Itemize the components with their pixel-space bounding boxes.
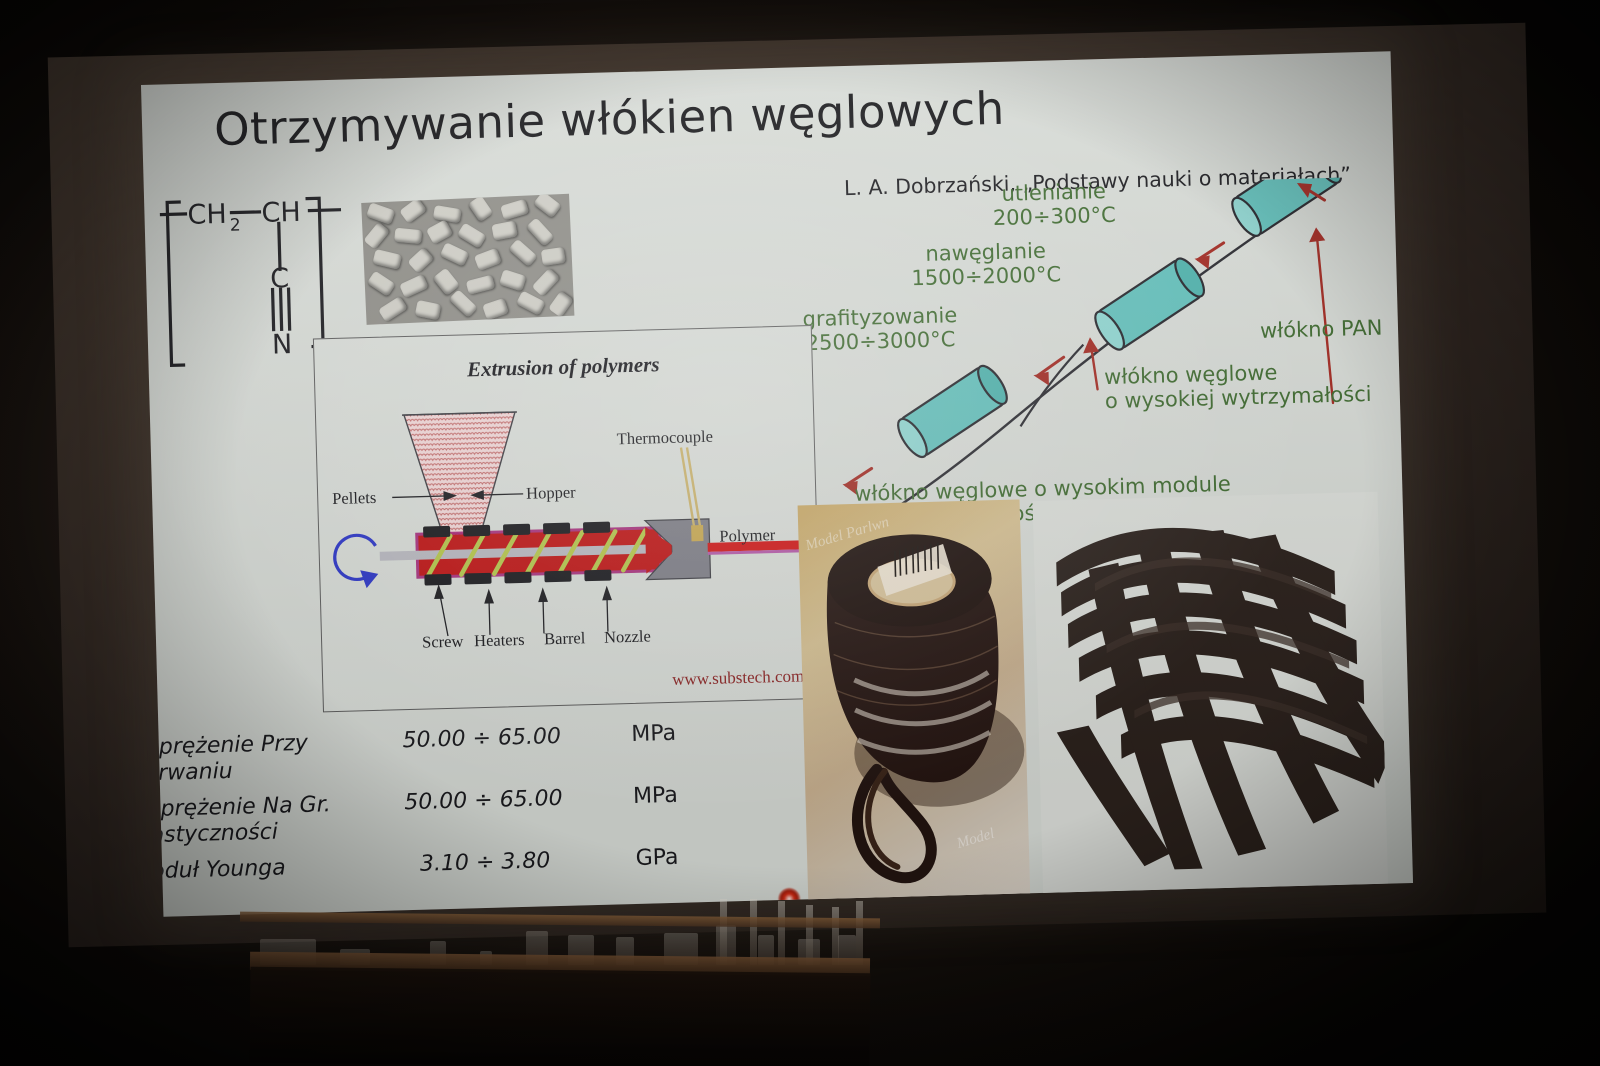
extrusion-source-watermark: www.substech.com [672, 666, 805, 690]
weave-drawing [1033, 492, 1388, 893]
formula-nitrogen: N [272, 329, 293, 361]
property-value: 3.10 ÷ 3.80 [390, 847, 581, 877]
extrusion-label-hopper: Hopper [526, 482, 576, 503]
polymer-pellets-photo [361, 194, 574, 325]
label-pan-fiber: włókno PAN [1260, 317, 1383, 344]
formula-ch2-subscript: 2 [230, 215, 241, 235]
property-value: 50.00 ÷ 65.00 [388, 785, 579, 815]
property-value: 50.00 ÷ 65.00 [386, 724, 577, 754]
label-oxidation-line1: utlenianie [1001, 179, 1106, 206]
property-unit: GPa [602, 844, 713, 872]
extrusion-label-nozzle: Nozzle [604, 626, 651, 647]
property-name: Moduł Younga [141, 853, 373, 885]
label-high-strength-fiber: włókno węglowe o wysokiej wytrzymałości [1104, 359, 1372, 413]
extrusion-diagram-svg [314, 326, 821, 711]
label-carbonization-line2: 1500÷2000°C [911, 262, 1061, 290]
photo-scene: Otrzymywanie włókien węglowych CH 2 CH C… [0, 0, 1600, 1066]
properties-table: Naprężenie Przy Zerwaniu 50.00 ÷ 65.00 M… [141, 719, 733, 899]
extrusion-label-screw: Screw [422, 632, 464, 653]
extrusion-label-thermocouple: Thermocouple [616, 427, 713, 450]
property-name: Naprężenie Przy Zerwaniu [141, 729, 370, 787]
label-graphitization: grafityzowanie 2500÷3000°C [802, 304, 958, 355]
extrusion-label-pellets: Pellets [332, 488, 377, 509]
formula-ch: CH [261, 197, 301, 229]
lab-bench-legs [250, 967, 871, 1066]
label-oxidation-line2: 200÷300°C [993, 202, 1117, 229]
projected-slide: Otrzymywanie włókien węglowych CH 2 CH C… [141, 51, 1413, 917]
extrusion-label-polymer: Polymer [719, 525, 775, 547]
formula-carbon: C [270, 263, 290, 294]
extrusion-label-heaters: Heaters [474, 630, 525, 651]
property-name: Naprężenie Na Gr. Plastyczności [141, 791, 372, 849]
extrusion-figure: Extrusion of polymers [313, 325, 822, 712]
property-unit: MPa [598, 720, 709, 748]
extrusion-label-barrel: Barrel [544, 628, 586, 649]
label-graphitization-line2: 2500÷3000°C [805, 327, 955, 355]
woven-carbon-fabric-photo [1033, 492, 1388, 893]
formula-ch2: CH [187, 199, 227, 231]
label-carbonization: nawęglanie 1500÷2000°C [911, 239, 1062, 290]
spool-drawing [798, 499, 1031, 901]
carbon-fiber-spool-photo: Model Parlwn Model Model [798, 499, 1031, 901]
label-oxidation: utlenianie 200÷300°C [992, 180, 1116, 230]
property-unit: MPa [600, 782, 711, 810]
page-title: Otrzymywanie włókien węglowych [213, 82, 1005, 156]
